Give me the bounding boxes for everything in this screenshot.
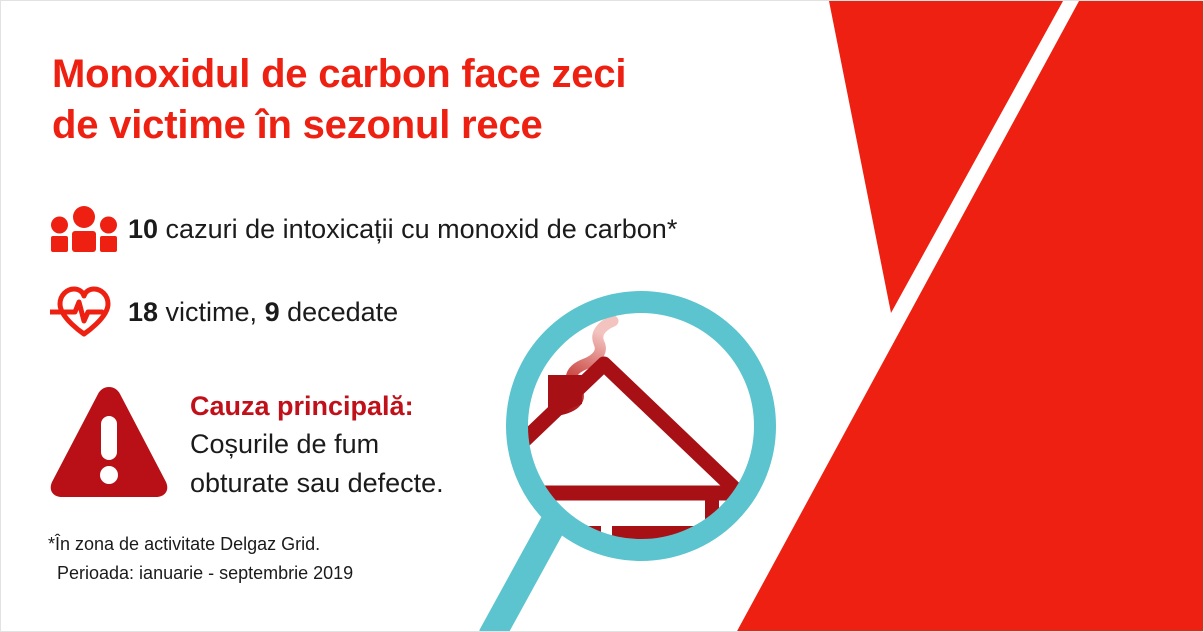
chimney-icon [548,375,582,417]
smoke-icon [559,321,613,410]
heart-pulse-icon [50,286,118,338]
stat-deceased-value: 9 [265,297,280,327]
red-shape-upper-left [829,1,1063,313]
stat-victims-text: 18 victime, 9 decedate [128,297,398,328]
red-shape-large-right [736,1,1204,632]
footnote: *În zona de activitate Delgaz Grid. Peri… [48,530,353,588]
magnifying-glass-illustration [441,265,861,632]
stat-row-cases: 10 cazuri de intoxicații cu monoxid de c… [48,204,677,254]
people-group-icon-box [48,204,120,254]
stat-deceased-label: decedate [280,297,399,327]
stat-cases-value: 10 [128,214,158,244]
cause-block: Cauza principală: Coșurile de fum obtura… [48,383,444,502]
warning-triangle-icon [48,383,170,501]
house-walls [496,497,712,615]
window-icon [619,533,695,589]
cause-text-group: Cauza principală: Coșurile de fum obtura… [190,387,444,502]
people-group-icon [51,206,117,252]
title-line-2: de victime în sezonul rece [52,100,742,151]
footnote-line-1: *În zona de activitate Delgaz Grid. [48,530,353,559]
stat-row-victims: 18 victime, 9 decedate [48,286,398,338]
magnifier-ring [517,302,765,550]
warning-triangle-icon-box [48,383,170,501]
stat-victims-value: 18 [128,297,158,327]
heart-pulse-icon-box [48,286,120,338]
infographic-canvas: Monoxidul de carbon face zeci de victime… [0,0,1204,632]
roof-icon [469,364,739,493]
page-title: Monoxidul de carbon face zeci de victime… [52,49,742,151]
title-line-1: Monoxidul de carbon face zeci [52,49,742,100]
door-icon [540,533,594,619]
stat-victims-label: victime, [158,297,265,327]
cause-heading: Cauza principală: [190,387,444,425]
cause-line-2: obturate sau defecte. [190,464,444,502]
cause-line-1: Coșurile de fum [190,425,444,463]
footnote-line-2: Perioada: ianuarie - septembrie 2019 [48,559,353,588]
house-icon [469,321,739,619]
stat-cases-label: cazuri de intoxicații cu monoxid de carb… [158,214,677,244]
magnifier-handle [491,513,559,632]
stat-cases-text: 10 cazuri de intoxicații cu monoxid de c… [128,214,677,245]
